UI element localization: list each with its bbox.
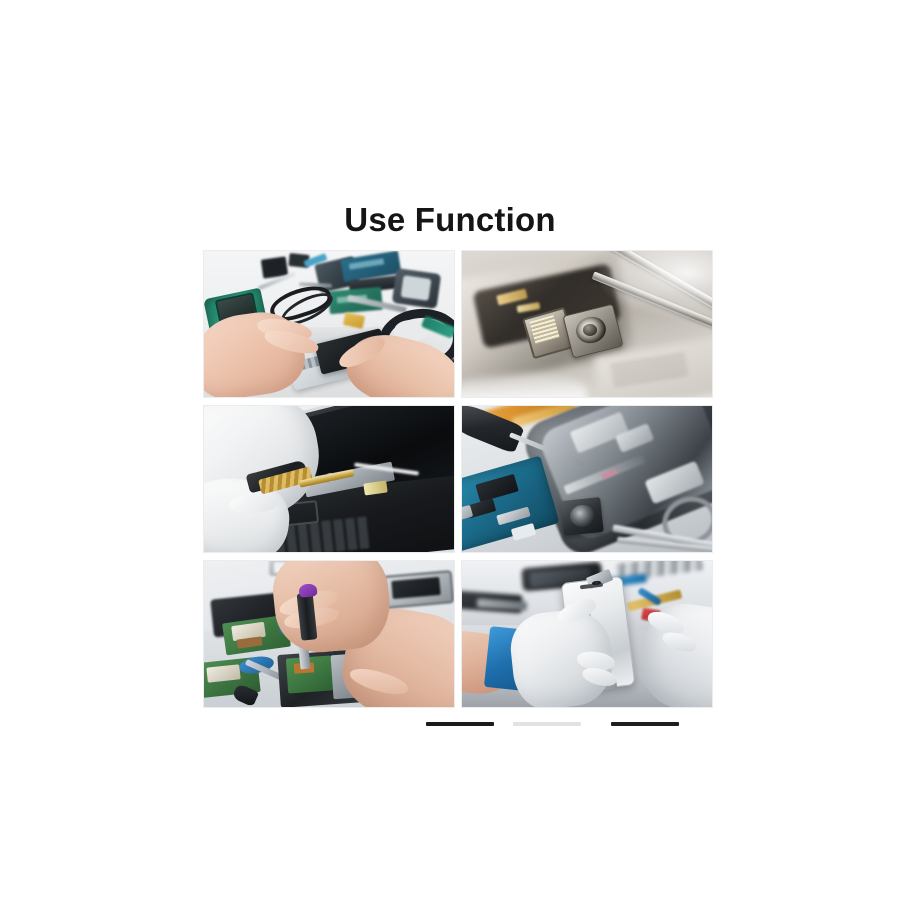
- photo-disassembled-phone-logic-board: [462, 406, 712, 552]
- use-function-gallery: Technician's bare hands separating a sma…: [203, 250, 713, 708]
- product-image-canvas: Use Function: [0, 0, 900, 900]
- gallery-cell-3[interactable]: White-gloved hands using a gold-grip pre…: [203, 405, 455, 553]
- gallery-cell-4[interactable]: Disassembled smartphone showing teal-blu…: [461, 405, 713, 553]
- photo-gloved-hands-iphone-display: [462, 561, 712, 707]
- cropped-thumbnail-strip: [203, 722, 713, 728]
- strip-segment-center: [513, 722, 581, 726]
- photo-tweezers-camera-module: [462, 251, 712, 397]
- page-title: Use Function: [0, 200, 900, 240]
- photo-gloved-hands-laptop-screwdriver: [204, 406, 454, 552]
- gallery-cell-5[interactable]: Two bare hands, one gripping a purple-ca…: [203, 560, 455, 708]
- strip-segment-right: [611, 722, 679, 726]
- gallery-cell-6[interactable]: Hands in white anti-static gloves with b…: [461, 560, 713, 708]
- gallery-cell-1[interactable]: Technician's bare hands separating a sma…: [203, 250, 455, 398]
- photo-phone-screen-separation: [204, 251, 454, 397]
- gallery-cell-2[interactable]: Macro close-up of metal tweezers lifting…: [461, 250, 713, 398]
- strip-segment-left: [426, 722, 494, 726]
- photo-hands-purple-screwdriver-board: [204, 561, 454, 707]
